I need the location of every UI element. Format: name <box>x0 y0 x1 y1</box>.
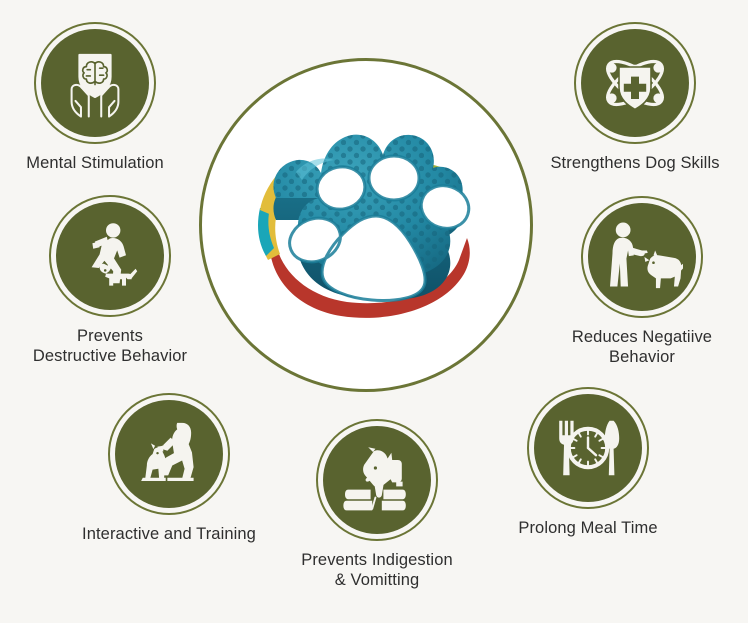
badge-ring <box>108 393 230 515</box>
brain-shield-hands-icon <box>56 44 134 122</box>
product-image <box>216 80 516 370</box>
atom-shield-plus-icon <box>595 43 675 123</box>
benefit-label: Interactive and Training <box>82 524 256 544</box>
benefit-prolong-meal-time[interactable]: Prolong Meal Time <box>458 387 718 538</box>
person-commanding-dog-icon <box>601 216 683 298</box>
product-hero-circle[interactable] <box>199 58 533 392</box>
badge-ring <box>316 419 438 541</box>
benefit-strengthens-dog-skills[interactable]: Strengthens Dog Skills <box>505 22 748 173</box>
benefit-label: Prolong Meal Time <box>518 518 657 538</box>
badge-disc <box>588 203 696 311</box>
benefit-label: Strengthens Dog Skills <box>550 153 719 173</box>
person-running-with-dog-icon <box>70 216 150 296</box>
benefit-label: Reduces Negatiive Behavior <box>572 327 712 368</box>
badge-ring <box>34 22 156 144</box>
dog-head-vomit-icon <box>337 440 417 520</box>
benefit-mental-stimulation[interactable]: Mental Stimulation <box>0 22 225 173</box>
paw-chew-toy-illustration <box>216 80 516 370</box>
badge-ring <box>581 196 703 318</box>
benefit-reduces-negatiive-behavior[interactable]: Reduces Negatiive Behavior <box>512 196 748 368</box>
badge-disc <box>115 400 223 508</box>
badge-disc <box>56 202 164 310</box>
benefit-label: Prevents Indigestion & Vomitting <box>301 550 453 591</box>
badge-disc <box>323 426 431 534</box>
badge-disc <box>581 29 689 137</box>
fork-clock-knife-icon <box>548 408 628 488</box>
benefit-label: Prevents Destructive Behavior <box>33 326 187 367</box>
badge-ring <box>527 387 649 509</box>
badge-disc <box>534 394 642 502</box>
badge-ring <box>574 22 696 144</box>
infographic-canvas: Mental Stimulation <box>0 0 748 623</box>
benefit-label: Mental Stimulation <box>26 153 164 173</box>
person-kneeling-training-dog-icon <box>128 413 210 495</box>
badge-disc <box>41 29 149 137</box>
badge-ring <box>49 195 171 317</box>
